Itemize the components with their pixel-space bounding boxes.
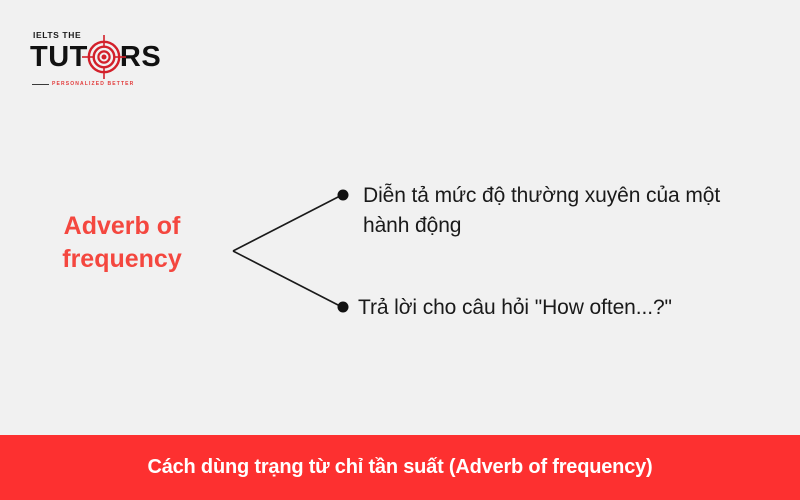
logo-wordmark: TUT RS bbox=[30, 43, 161, 71]
infographic-canvas: IELTS THE TUT RS bbox=[0, 0, 800, 500]
logo-tagline-row: PERSONALIZED BETTER bbox=[32, 79, 144, 89]
bottom-banner: Cách dùng trạng từ chỉ tần suất (Adverb … bbox=[0, 435, 800, 500]
bullet-dot-icon bbox=[338, 190, 349, 201]
branch-item-text: Trả lời cho câu hỏi "How often...?" bbox=[358, 293, 778, 323]
bullseye-target-icon bbox=[87, 40, 121, 74]
root-node-label-line1: Adverb of bbox=[32, 210, 212, 243]
logo-divider-line bbox=[32, 84, 49, 85]
connector-line-lower bbox=[233, 251, 340, 306]
brand-logo: IELTS THE TUT RS bbox=[30, 31, 160, 93]
branch-item-text: Diễn tả mức độ thường xuyên của một hành… bbox=[363, 181, 733, 242]
bottom-banner-title: Cách dùng trạng từ chỉ tần suất (Adverb … bbox=[147, 456, 652, 479]
logo-kicker-text: IELTS THE bbox=[33, 31, 81, 40]
root-node-label-line2: frequency bbox=[32, 243, 212, 276]
logo-wordmark-right: RS bbox=[120, 43, 161, 72]
connector-line-upper bbox=[233, 196, 340, 251]
logo-tagline-text: PERSONALIZED BETTER bbox=[52, 82, 134, 87]
bullet-dot-icon bbox=[338, 302, 349, 313]
root-node-label: Adverb of frequency bbox=[32, 210, 212, 276]
logo-wordmark-left: TUT bbox=[30, 43, 88, 72]
